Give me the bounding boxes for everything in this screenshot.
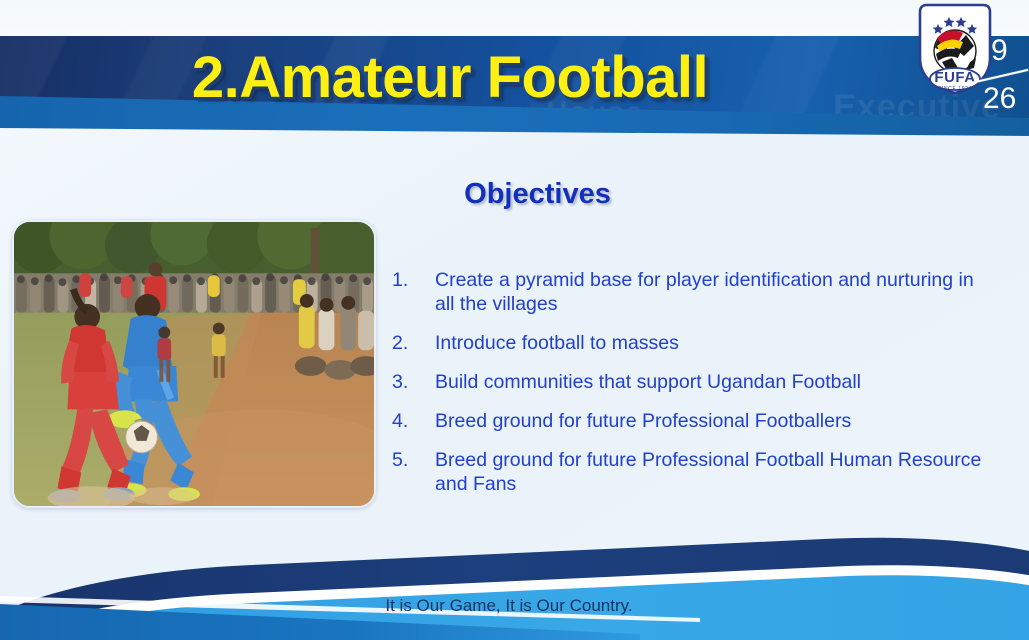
top-strip xyxy=(0,0,1029,38)
list-item-text: Create a pyramid base for player identif… xyxy=(435,268,992,316)
slide-title: 2.Amateur Football xyxy=(0,44,900,111)
page-title: Objectives xyxy=(0,178,1029,211)
list-item: 2. Introduce football to masses xyxy=(392,331,992,355)
footer-slogan: It is Our Game, It is Our Country. xyxy=(0,596,1029,616)
list-item: 5. Breed ground for future Professional … xyxy=(392,448,992,496)
list-item-number: 3. xyxy=(392,370,435,394)
slide-pagination: 9 26 xyxy=(981,36,1025,122)
objectives-heading-text: Objectives xyxy=(464,178,611,211)
list-item-text: Breed ground for future Professional Foo… xyxy=(435,409,992,433)
footer-slogan-text: It is Our Game, It is Our Country. xyxy=(385,596,632,616)
list-item-number: 2. xyxy=(392,331,435,355)
list-item-text: Breed ground for future Professional Foo… xyxy=(435,448,992,496)
grassroots-football-match-photo xyxy=(12,220,376,508)
svg-text:SINCE 1924: SINCE 1924 xyxy=(938,86,972,92)
list-item-text: Build communities that support Ugandan F… xyxy=(435,370,992,394)
objectives-list: 1. Create a pyramid base for player iden… xyxy=(392,268,992,511)
total-slide-number: 26 xyxy=(983,84,1016,114)
current-slide-number: 9 xyxy=(991,36,1008,66)
list-item: 1. Create a pyramid base for player iden… xyxy=(392,268,992,316)
list-item-text: Introduce football to masses xyxy=(435,331,992,355)
list-item-number: 5. xyxy=(392,448,435,496)
presentation-slide: Executive House House 2.Amateur Football… xyxy=(0,0,1029,640)
list-item: 4. Breed ground for future Professional … xyxy=(392,409,992,433)
list-item-number: 4. xyxy=(392,409,435,433)
list-item: 3. Build communities that support Uganda… xyxy=(392,370,992,394)
list-item-number: 1. xyxy=(392,268,435,316)
